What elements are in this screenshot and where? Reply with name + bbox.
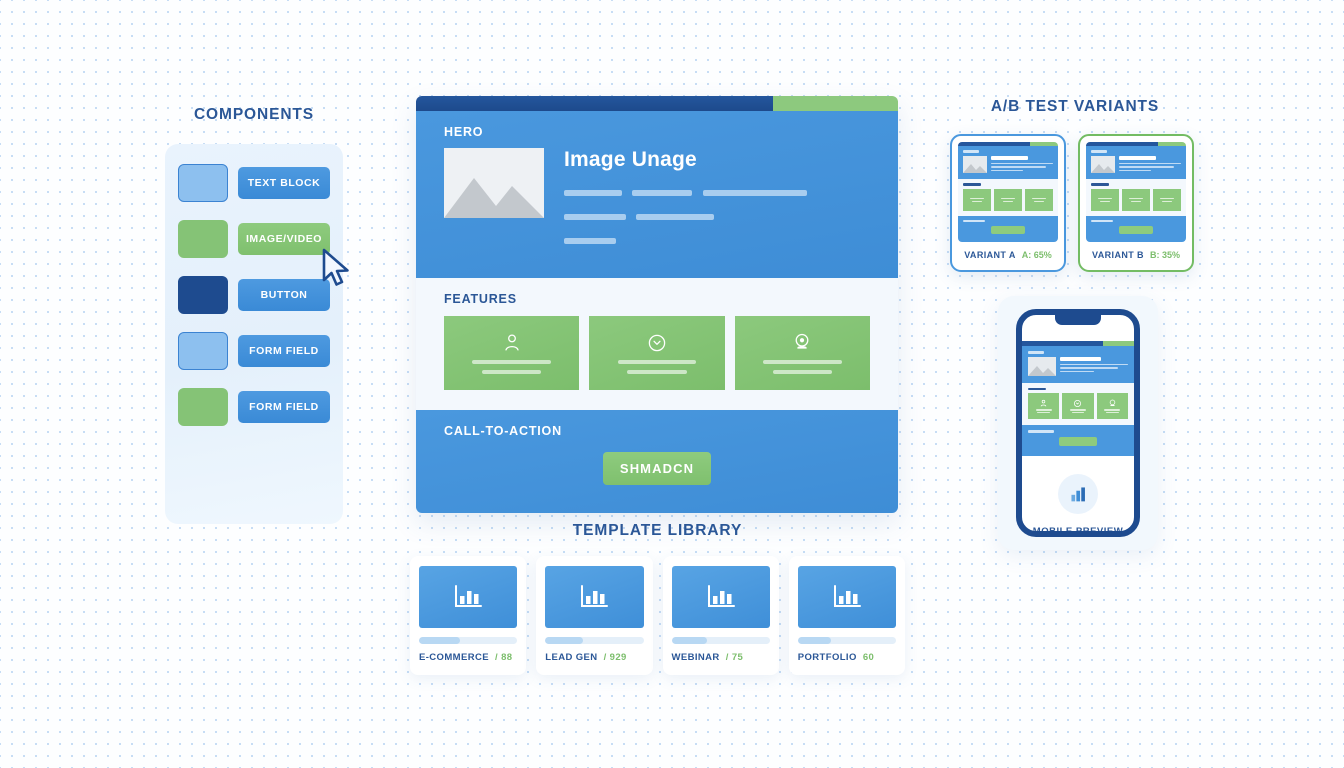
component-label-form-field-2[interactable]: FORM FIELD [238, 391, 330, 423]
component-label-image-video[interactable]: IMAGE/VIDEO [238, 223, 330, 255]
components-title: COMPONENTS [165, 106, 343, 124]
hero-section[interactable]: HERO Image Unage [416, 111, 898, 278]
template-progress-bar [798, 637, 896, 644]
image-placeholder-icon [1091, 156, 1115, 173]
variant-name: VARIANT B [1092, 250, 1144, 260]
canvas-topbar [416, 96, 898, 111]
bar-chart-icon [703, 581, 739, 613]
template-stat: / 88 [495, 652, 512, 663]
template-library-title: TEMPLATE LIBRARY [405, 522, 910, 540]
bar-chart-icon [576, 581, 612, 613]
component-label-button[interactable]: BUTTON [238, 279, 330, 311]
clock-chevron-icon [1073, 399, 1082, 408]
swatch-green [178, 220, 228, 258]
feature-card-user[interactable] [444, 316, 579, 390]
phone-screen: MOBILE PREVIEW [1022, 315, 1134, 537]
template-card-lead-gen[interactable]: LEAD GEN / 929 [536, 556, 652, 675]
image-placeholder-icon [1028, 357, 1056, 376]
component-item-image-video[interactable]: IMAGE/VIDEO [178, 220, 330, 258]
template-library-panel: TEMPLATE LIBRARY E-COMMERCE / 88 [405, 522, 910, 675]
cta-label: CALL-TO-ACTION [444, 424, 870, 438]
bar-chart-icon [1068, 485, 1088, 503]
component-item-button[interactable]: BUTTON [178, 276, 330, 314]
mobile-preview-label: MOBILE PREVIEW [1022, 526, 1134, 537]
mobile-preview-logo [1058, 474, 1098, 514]
phone-notch [1055, 315, 1101, 325]
template-thumbnail [798, 566, 896, 628]
image-placeholder-icon [963, 156, 987, 173]
variant-share: B: 35% [1150, 250, 1180, 260]
swatch-dark-blue [178, 276, 228, 314]
bar-chart-icon [450, 581, 486, 613]
location-pin-icon [791, 332, 813, 354]
template-name: LEAD GEN [545, 652, 597, 663]
clock-chevron-icon [646, 332, 668, 354]
image-placeholder-icon [444, 148, 544, 218]
components-panel: COMPONENTS TEXT BLOCK IMAGE/VIDEO BUTTON… [165, 106, 343, 524]
component-label-form-field-1[interactable]: FORM FIELD [238, 335, 330, 367]
mouse-cursor-icon [320, 247, 354, 289]
app-canvas: COMPONENTS TEXT BLOCK IMAGE/VIDEO BUTTON… [0, 0, 1344, 768]
template-stat: / 929 [604, 652, 627, 663]
ab-test-title: A/B TEST VARIANTS [950, 98, 1200, 116]
hero-text-lines [564, 184, 870, 250]
location-pin-icon [1108, 399, 1117, 408]
hero-label: HERO [444, 125, 870, 139]
component-item-text-block[interactable]: TEXT BLOCK [178, 164, 330, 202]
ab-test-panel: A/B TEST VARIANTS [950, 98, 1200, 272]
swatch-light-blue [178, 164, 228, 202]
template-card-webinar[interactable]: WEBINAR / 75 [663, 556, 779, 675]
ab-variant-card-b[interactable]: VARIANT B B: 35% [1078, 134, 1194, 272]
variant-share: A: 65% [1022, 250, 1052, 260]
user-icon [1039, 399, 1048, 408]
feature-card-location[interactable] [735, 316, 870, 390]
template-progress-bar [419, 637, 517, 644]
swatch-light-blue [178, 332, 228, 370]
topbar-segment-green [773, 96, 898, 111]
template-name: E-COMMERCE [419, 652, 489, 663]
component-item-form-field-2[interactable]: FORM FIELD [178, 388, 330, 426]
template-stat: 60 [863, 652, 874, 663]
page-canvas[interactable]: HERO Image Unage [416, 96, 898, 513]
cta-section[interactable]: CALL-TO-ACTION SHMADCN [416, 410, 898, 513]
template-progress-bar [672, 637, 770, 644]
components-list: TEXT BLOCK IMAGE/VIDEO BUTTON FORM FIELD… [165, 144, 343, 524]
feature-card-clock[interactable] [589, 316, 724, 390]
ab-variant-card-a[interactable]: VARIANT A A: 65% [950, 134, 1066, 272]
cta-button[interactable]: SHMADCN [603, 452, 711, 485]
mobile-preview-panel: MOBILE PREVIEW [998, 296, 1158, 550]
template-card-portfolio[interactable]: PORTFOLIO 60 [789, 556, 905, 675]
template-thumbnail [545, 566, 643, 628]
topbar-segment-dark [416, 96, 773, 111]
swatch-green [178, 388, 228, 426]
component-label-text-block[interactable]: TEXT BLOCK [238, 167, 330, 199]
template-name: PORTFOLIO [798, 652, 857, 663]
phone-frame[interactable]: MOBILE PREVIEW [1016, 309, 1140, 537]
template-progress-bar [545, 637, 643, 644]
variant-a-wireframe [958, 142, 1058, 242]
template-thumbnail [672, 566, 770, 628]
template-card-e-commerce[interactable]: E-COMMERCE / 88 [410, 556, 526, 675]
template-name: WEBINAR [672, 652, 720, 663]
hero-title: Image Unage [564, 148, 870, 172]
variant-b-wireframe [1086, 142, 1186, 242]
features-section[interactable]: FEATURES [416, 278, 898, 410]
mobile-wireframe [1022, 341, 1134, 456]
features-label: FEATURES [444, 292, 870, 306]
user-icon [501, 332, 523, 354]
bar-chart-icon [829, 581, 865, 613]
variant-name: VARIANT A [964, 250, 1016, 260]
hero-image-placeholder [444, 148, 544, 218]
template-thumbnail [419, 566, 517, 628]
template-stat: / 75 [726, 652, 743, 663]
component-item-form-field-1[interactable]: FORM FIELD [178, 332, 330, 370]
